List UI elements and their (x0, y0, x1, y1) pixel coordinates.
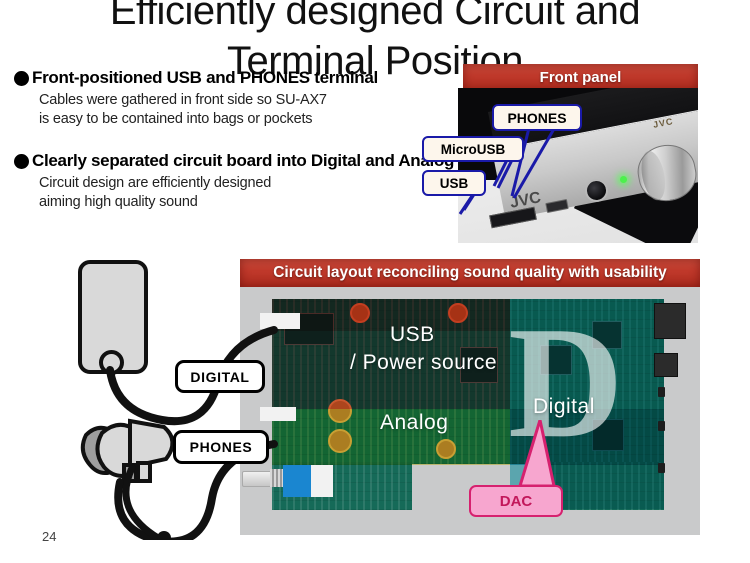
rear-port-2 (654, 353, 678, 377)
callout-dac[interactable]: DAC (469, 485, 563, 517)
bullet-sub-1: Cables were gathered in front side so SU… (39, 91, 464, 129)
zone-label-power: / Power source (350, 351, 497, 375)
label-phones[interactable]: PHONES (173, 430, 269, 464)
front-panel-banner: Front panel (463, 64, 698, 91)
edge-nub (658, 463, 665, 473)
callout-microusb[interactable]: MicroUSB (422, 136, 524, 162)
label-digital[interactable]: DIGITAL (175, 360, 265, 393)
white-connector (311, 465, 333, 497)
bullet-spacer (14, 129, 464, 151)
bullet-item-2: Clearly separated circuit board into Dig… (14, 151, 464, 212)
bullet-heading-2: Clearly separated circuit board into Dig… (32, 151, 454, 171)
callout-phones[interactable]: PHONES (492, 104, 582, 131)
edge-nub (658, 387, 665, 397)
circuit-layout-banner: Circuit layout reconciling sound quality… (240, 259, 700, 287)
bullet-list: Front-positioned USB and PHONES terminal… (14, 68, 464, 212)
bullet-sub-2: Circuit design are efficiently designed … (39, 174, 464, 212)
cable-paths (60, 252, 290, 540)
zone-label-analog: Analog (380, 411, 448, 435)
bullet-dot-icon (14, 71, 29, 86)
bullet-item-1: Front-positioned USB and PHONES terminal… (14, 68, 464, 129)
callout-usb[interactable]: USB (422, 170, 486, 196)
rear-port-1 (654, 303, 686, 339)
bullet-heading-1: Front-positioned USB and PHONES terminal (32, 68, 378, 88)
bullet-dot-icon (14, 154, 29, 169)
zone-label-digital: Digital (533, 395, 595, 419)
edge-nub (658, 421, 665, 431)
zone-label-usb: USB (390, 323, 435, 347)
page-number: 24 (42, 529, 56, 544)
device-connection-illustration (60, 252, 290, 540)
